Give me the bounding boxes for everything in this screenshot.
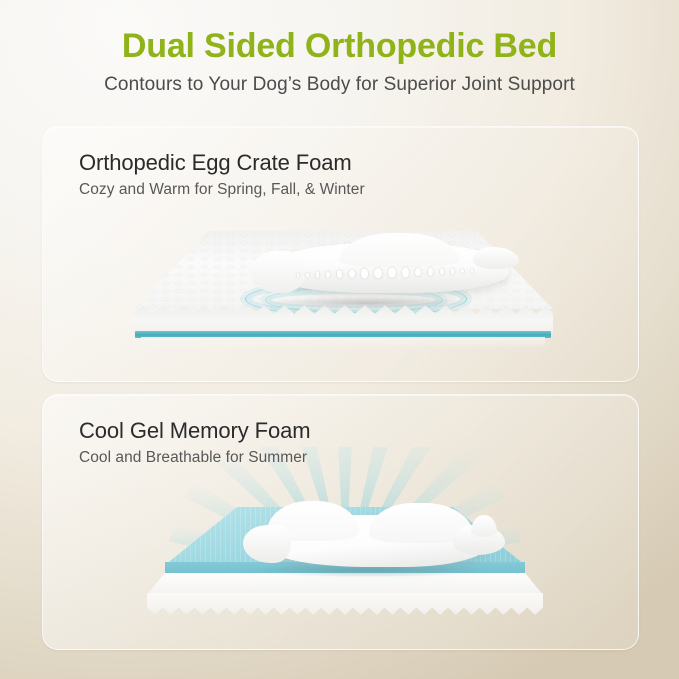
dog-spine-dot	[374, 268, 381, 278]
dog-silhouette	[251, 233, 521, 299]
foam-slab	[133, 231, 553, 353]
dog-back-hump	[339, 233, 459, 267]
card-subtitle: Cozy and Warm for Spring, Fall, & Winter	[79, 181, 365, 199]
feature-card-cool-gel-memory-foam: Cool Gel Memory Foam Cool and Breathable…	[42, 394, 639, 650]
dog-spine-dot	[326, 271, 331, 277]
dog-ear	[471, 515, 497, 537]
dog-spine-dot	[316, 272, 320, 277]
card-subtitle: Cool and Breathable for Summer	[79, 449, 311, 467]
product-infographic: Dual Sided Orthopedic Bed Contours to Yo…	[0, 0, 679, 679]
base-foam-zigzag-front-edge	[147, 593, 543, 619]
egg-crate-foam-illustration	[43, 191, 638, 381]
card-header: Orthopedic Egg Crate Foam Cozy and Warm …	[79, 150, 365, 199]
feature-card-orthopedic-egg-crate-foam: Orthopedic Egg Crate Foam Cozy and Warm …	[42, 126, 639, 382]
dog-spine-dot	[428, 268, 433, 275]
card-header: Cool Gel Memory Foam Cool and Breathable…	[79, 418, 311, 467]
dog-spine-dot	[471, 269, 473, 272]
dog-head	[243, 525, 291, 563]
dog-spine-dot	[297, 274, 299, 277]
header: Dual Sided Orthopedic Bed Contours to Yo…	[0, 0, 679, 97]
card-title: Orthopedic Egg Crate Foam	[79, 150, 365, 175]
dog-tail	[473, 247, 519, 269]
dog-spine-dot	[402, 268, 409, 277]
dog-spine-dot	[461, 269, 464, 273]
card-title: Cool Gel Memory Foam	[79, 418, 311, 443]
dog-spine-dot	[306, 273, 309, 277]
slab-underglow	[141, 337, 545, 349]
page-title: Dual Sided Orthopedic Bed	[0, 27, 679, 65]
dog-spine-dot	[349, 270, 355, 278]
dog-spine-dot	[451, 269, 455, 274]
dog-spine-dot	[415, 268, 421, 276]
dog-spine-dot	[439, 268, 444, 274]
dog-spine-dot	[388, 268, 395, 278]
dog-spine-dot	[361, 269, 368, 278]
page-subtitle: Contours to Your Dog’s Body for Superior…	[0, 74, 679, 97]
dog-spine-dot	[337, 271, 342, 278]
dog-silhouette	[243, 495, 507, 571]
